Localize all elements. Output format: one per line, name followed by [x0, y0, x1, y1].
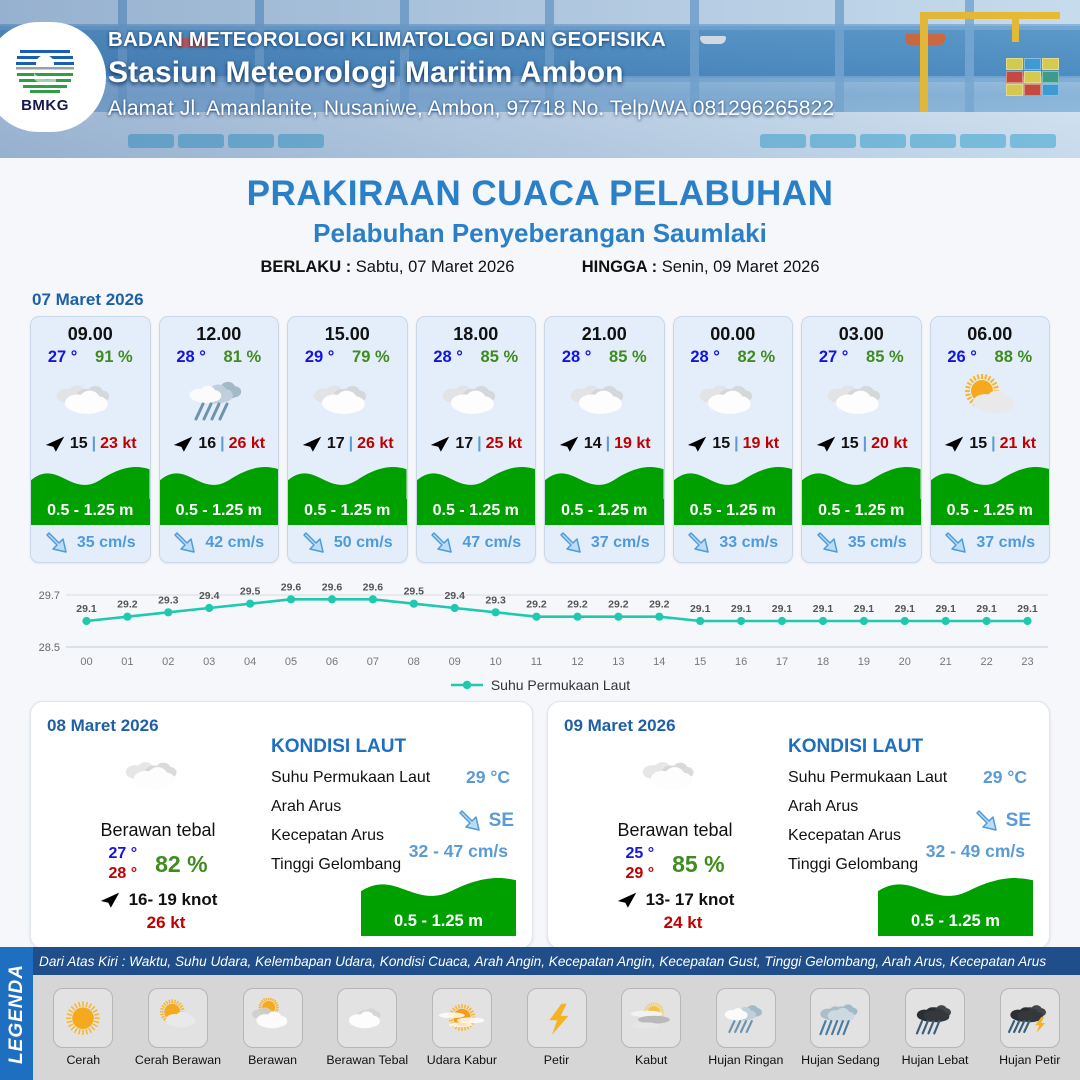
panel-wave-value: 0.5 - 1.25 m	[878, 912, 1033, 931]
panel-current-dir-row: Arah Arus SE	[271, 798, 516, 816]
card-wave-height: 0.5 - 1.25 m	[160, 502, 279, 520]
card-wind-separator: |	[92, 435, 96, 453]
legend-icon-row: Cerah Cerah Berawan Berawan Berawan	[33, 975, 1080, 1080]
chart-legend-label: Suhu Permukaan Laut	[491, 677, 630, 693]
legend-item: Petir	[510, 988, 603, 1067]
svg-text:29.6: 29.6	[363, 581, 384, 593]
svg-text:16: 16	[735, 656, 747, 668]
hourly-card: 21.00 28 ° 85 % 14 | 19 kt 0	[544, 316, 665, 563]
card-wind-separator: |	[734, 435, 738, 453]
cerah-berawan-icon	[954, 372, 1026, 428]
card-humidity: 91 %	[95, 348, 133, 367]
panel-wave-badge: 0.5 - 1.25 m	[878, 867, 1033, 936]
legend-icon-box	[432, 988, 492, 1048]
wave-shape-icon	[878, 867, 1033, 911]
svg-text:12: 12	[571, 656, 583, 668]
agency-name: BADAN METEOROLOGI KLIMATOLOGI DAN GEOFIS…	[108, 28, 834, 52]
card-time: 18.00	[417, 317, 536, 345]
card-humidity: 82 %	[738, 348, 776, 367]
svg-text:10: 10	[489, 656, 501, 668]
wind-direction-icon	[686, 435, 708, 453]
card-temp-hum-row: 29 ° 79 %	[288, 345, 407, 367]
cerah-berawan-icon	[152, 998, 204, 1038]
hourly-card: 12.00 28 ° 81 % 16 | 26 kt 0	[159, 316, 280, 563]
panel-wave-badge: 0.5 - 1.25 m	[361, 867, 516, 936]
title-block: PRAKIRAAN CUACA PELABUHAN Pelabuhan Peny…	[0, 174, 1080, 277]
panel-sst-value: 29 °C	[983, 767, 1027, 788]
wind-direction-icon	[172, 435, 194, 453]
legend-item: Kabut	[605, 988, 698, 1067]
card-current-row: 50 cm/s	[288, 524, 407, 562]
wave-shape-icon	[931, 456, 1050, 500]
panel-humidity: 82 %	[155, 851, 207, 878]
berawan-tebal-icon	[54, 372, 126, 428]
card-time: 15.00	[288, 317, 407, 345]
legend-icon-box	[810, 988, 870, 1048]
hourly-card: 00.00 28 ° 82 % 15 | 19 kt 0	[673, 316, 794, 563]
panel-weather-icon	[570, 746, 780, 806]
card-current-row: 37 cm/s	[931, 524, 1050, 562]
svg-text:18: 18	[817, 656, 829, 668]
hujan-ringan-icon	[183, 372, 255, 428]
legend-item: Hujan Lebat	[889, 988, 982, 1067]
card-current-row: 37 cm/s	[545, 524, 664, 562]
panel-sst-label: Suhu Permukaan Laut	[271, 769, 430, 786]
card-humidity: 88 %	[995, 348, 1033, 367]
card-temperature: 28 °	[562, 348, 592, 367]
svg-text:05: 05	[285, 656, 297, 668]
hourly-card: 15.00 29 ° 79 % 17 | 26 kt 0	[287, 316, 408, 563]
hingga-value: Senin, 09 Maret 2026	[662, 258, 820, 276]
legend-footer: LEGENDA Dari Atas Kiri : Waktu, Suhu Uda…	[0, 947, 1080, 1080]
card-temp-hum-row: 28 ° 81 %	[160, 345, 279, 367]
wind-direction-icon	[301, 435, 323, 453]
wave-shape-icon	[802, 456, 921, 500]
card-wind-separator: |	[477, 435, 481, 453]
card-gust: 23 kt	[100, 435, 136, 453]
svg-text:09: 09	[449, 656, 461, 668]
svg-text:29.3: 29.3	[158, 594, 179, 606]
bmkg-emblem-icon	[14, 40, 76, 96]
card-wind-separator: |	[349, 435, 353, 453]
daily-summary-panels: 08 Maret 2026 Berawan tebal 27 ° 28 ° 82…	[0, 693, 1080, 949]
card-wind-separator: |	[220, 435, 224, 453]
legend-icon-box	[1000, 988, 1060, 1048]
chart-legend: Suhu Permukaan Laut	[0, 677, 1080, 693]
card-weather-icon	[417, 369, 536, 431]
panel-wave-row: Tinggi Gelombang 0.5 - 1.25 m	[788, 856, 1033, 874]
card-current-row: 35 cm/s	[31, 524, 150, 562]
hujan-petir-icon	[1004, 998, 1056, 1038]
card-wind-row: 14 | 19 kt	[545, 431, 664, 456]
hourly-card: 18.00 28 ° 85 % 17 | 25 kt 0	[416, 316, 537, 563]
card-wind-separator: |	[991, 435, 995, 453]
svg-text:29.1: 29.1	[690, 603, 711, 615]
panel-sea-conditions: KONDISI LAUT Suhu Permukaan Laut 29 °C A…	[271, 736, 516, 874]
legend-caption: Dari Atas Kiri : Waktu, Suhu Udara, Kele…	[39, 954, 1046, 969]
svg-text:29.5: 29.5	[240, 586, 261, 598]
card-time: 12.00	[160, 317, 279, 345]
legend-item: Cerah	[37, 988, 130, 1067]
panel-weather-icon	[53, 746, 263, 806]
hujan-sedang-icon	[814, 998, 866, 1038]
wind-direction-icon	[943, 435, 965, 453]
card-wave-zone: 0.5 - 1.25 m	[417, 456, 536, 524]
card-temp-hum-row: 27 ° 91 %	[31, 345, 150, 367]
svg-text:29.7: 29.7	[39, 590, 60, 602]
berawan-tebal-icon	[825, 372, 897, 428]
card-wave-height: 0.5 - 1.25 m	[288, 502, 407, 520]
panel-temp-min: 25 °	[625, 845, 654, 863]
card-time: 21.00	[545, 317, 664, 345]
svg-text:29.6: 29.6	[281, 581, 302, 593]
legend-item-label: Hujan Sedang	[801, 1053, 880, 1067]
card-wind-speed: 15	[70, 435, 88, 453]
current-direction-icon	[559, 530, 585, 556]
legend-item-label: Hujan Lebat	[902, 1053, 969, 1067]
legend-item: Berawan Tebal	[321, 988, 414, 1067]
svg-text:29.5: 29.5	[404, 586, 425, 598]
card-gust: 25 kt	[486, 435, 522, 453]
card-wind-row: 16 | 26 kt	[160, 431, 279, 456]
card-wave-height: 0.5 - 1.25 m	[802, 502, 921, 520]
svg-text:23: 23	[1021, 656, 1033, 668]
sst-chart: 29.728.529.10029.20129.30229.40329.50429…	[18, 573, 1062, 673]
card-wave-height: 0.5 - 1.25 m	[417, 502, 536, 520]
panel-left: Berawan tebal 27 ° 28 ° 82 % 16- 19 knot…	[53, 746, 263, 933]
card-wave-height: 0.5 - 1.25 m	[31, 502, 150, 520]
wind-direction-icon	[558, 435, 580, 453]
panel-temp-max: 28 °	[108, 865, 137, 883]
page-title: PRAKIRAAN CUACA PELABUHAN	[0, 174, 1080, 214]
card-wind-speed: 15	[841, 435, 859, 453]
hourly-forecast-cards: 09.00 27 ° 91 % 15 | 23 kt 0	[0, 316, 1080, 563]
panel-current-speed-label: Kecepatan Arus	[271, 827, 384, 844]
wind-direction-icon	[99, 891, 121, 909]
svg-text:29.2: 29.2	[567, 599, 588, 611]
validity-row: BERLAKU : Sabtu, 07 Maret 2026 HINGGA : …	[0, 258, 1080, 277]
card-wind-row: 17 | 26 kt	[288, 431, 407, 456]
panel-sea-title: KONDISI LAUT	[788, 736, 1033, 758]
card-time: 09.00	[31, 317, 150, 345]
panel-condition: Berawan tebal	[570, 820, 780, 841]
card-wave-zone: 0.5 - 1.25 m	[931, 456, 1050, 524]
current-direction-icon	[687, 530, 713, 556]
card-current-speed: 37 cm/s	[591, 534, 650, 552]
panel-condition: Berawan tebal	[53, 820, 263, 841]
current-direction-icon	[45, 530, 71, 556]
panel-current-dir-label: Arah Arus	[271, 798, 341, 815]
card-time: 03.00	[802, 317, 921, 345]
card-wave-zone: 0.5 - 1.25 m	[288, 456, 407, 524]
panel-wind: 16- 19 knot	[129, 890, 218, 910]
card-gust: 19 kt	[743, 435, 779, 453]
card-wind-speed: 15	[712, 435, 730, 453]
wind-direction-icon	[429, 435, 451, 453]
wave-shape-icon	[361, 867, 516, 911]
daily-summary-panel: 08 Maret 2026 Berawan tebal 27 ° 28 ° 82…	[30, 701, 533, 949]
panel-wind-row: 16- 19 knot	[53, 890, 263, 910]
panel-wave-row: Tinggi Gelombang 0.5 - 1.25 m	[271, 856, 516, 874]
svg-text:19: 19	[858, 656, 870, 668]
svg-text:29.6: 29.6	[322, 581, 343, 593]
svg-text:07: 07	[367, 656, 379, 668]
petir-icon	[531, 998, 583, 1038]
panel-current-dir-label: Arah Arus	[788, 798, 858, 815]
legend-item: Cerah Berawan	[132, 988, 225, 1067]
legend-item-label: Cerah	[66, 1053, 100, 1067]
card-gust: 26 kt	[357, 435, 393, 453]
bmkg-logo: BMKG	[0, 22, 106, 132]
berawan-tebal-icon	[697, 372, 769, 428]
berawan-icon	[247, 998, 299, 1038]
card-gust: 26 kt	[229, 435, 265, 453]
card-current-speed: 33 cm/s	[719, 534, 778, 552]
legend-item-label: Cerah Berawan	[135, 1053, 221, 1067]
panel-date: 08 Maret 2026	[47, 716, 516, 736]
card-wave-height: 0.5 - 1.25 m	[931, 502, 1050, 520]
svg-text:17: 17	[776, 656, 788, 668]
current-direction-icon	[173, 530, 199, 556]
berawan-tebal-icon	[440, 372, 512, 428]
svg-text:06: 06	[326, 656, 338, 668]
berawan-tebal-icon	[123, 749, 193, 803]
card-temp-hum-row: 28 ° 82 %	[674, 345, 793, 367]
card-current-row: 33 cm/s	[674, 524, 793, 562]
card-wind-separator: |	[863, 435, 867, 453]
legend-icon-box	[53, 988, 113, 1048]
card-temp-hum-row: 28 ° 85 %	[545, 345, 664, 367]
wind-direction-icon	[616, 891, 638, 909]
svg-text:22: 22	[980, 656, 992, 668]
berlaku-label: BERLAKU :	[260, 258, 351, 276]
svg-text:29.2: 29.2	[117, 599, 138, 611]
hourly-card: 09.00 27 ° 91 % 15 | 23 kt 0	[30, 316, 151, 563]
card-weather-icon	[802, 369, 921, 431]
svg-text:29.4: 29.4	[444, 590, 465, 602]
svg-text:01: 01	[121, 656, 133, 668]
hujan-ringan-icon	[720, 998, 772, 1038]
svg-text:29.1: 29.1	[1017, 603, 1038, 615]
cerah-icon	[57, 998, 109, 1038]
legend-item-label: Petir	[544, 1053, 569, 1067]
card-humidity: 85 %	[866, 348, 904, 367]
berawan-tebal-icon	[568, 372, 640, 428]
card-time: 06.00	[931, 317, 1050, 345]
panel-sst-row: Suhu Permukaan Laut 29 °C	[788, 769, 1033, 787]
kabut-icon	[625, 998, 677, 1038]
udara-kabur-icon	[436, 998, 488, 1038]
card-wind-speed: 15	[969, 435, 987, 453]
card-weather-icon	[31, 369, 150, 431]
legend-item-label: Hujan Petir	[999, 1053, 1060, 1067]
card-humidity: 85 %	[481, 348, 519, 367]
legend-icon-box	[716, 988, 776, 1048]
chart-legend-marker-icon	[450, 679, 484, 691]
card-time: 00.00	[674, 317, 793, 345]
card-temperature: 28 °	[433, 348, 463, 367]
card-wind-row: 15 | 23 kt	[31, 431, 150, 456]
card-current-speed: 50 cm/s	[334, 534, 393, 552]
legend-icon-box	[905, 988, 965, 1048]
card-wave-zone: 0.5 - 1.25 m	[31, 456, 150, 524]
page-header: BMKG BADAN METEOROLOGI KLIMATOLOGI DAN G…	[0, 0, 1080, 158]
svg-text:20: 20	[899, 656, 911, 668]
berawan-tebal-icon	[640, 749, 710, 803]
wave-shape-icon	[31, 456, 150, 500]
sst-chart-svg: 29.728.529.10029.20129.30229.40329.50429…	[18, 573, 1062, 673]
legenda-tab: LEGENDA	[0, 947, 33, 1080]
legend-item-label: Kabut	[635, 1053, 667, 1067]
bmkg-logo-text: BMKG	[21, 97, 69, 114]
panel-wave-value: 0.5 - 1.25 m	[361, 912, 516, 931]
legend-item: Hujan Ringan	[699, 988, 792, 1067]
svg-text:04: 04	[244, 656, 256, 668]
hourly-card: 06.00 26 ° 88 % 15 | 21 kt 0.5 - 1.25 m …	[930, 316, 1051, 563]
card-current-speed: 42 cm/s	[205, 534, 264, 552]
svg-text:15: 15	[694, 656, 706, 668]
svg-text:29.1: 29.1	[935, 603, 956, 615]
svg-text:02: 02	[162, 656, 174, 668]
card-wave-zone: 0.5 - 1.25 m	[674, 456, 793, 524]
svg-text:00: 00	[80, 656, 92, 668]
card-temperature: 29 °	[305, 348, 335, 367]
card-current-row: 42 cm/s	[160, 524, 279, 562]
card-gust: 21 kt	[1000, 435, 1036, 453]
berlaku-value: Sabtu, 07 Maret 2026	[356, 258, 515, 276]
card-wave-zone: 0.5 - 1.25 m	[545, 456, 664, 524]
svg-text:03: 03	[203, 656, 215, 668]
hingga-label: HINGGA :	[582, 258, 657, 276]
legend-icon-box	[527, 988, 587, 1048]
legend-icon-box	[621, 988, 681, 1048]
legend-item-label: Hujan Ringan	[708, 1053, 783, 1067]
panel-humidity: 85 %	[672, 851, 724, 878]
hujan-lebat-icon	[909, 998, 961, 1038]
panel-sea-title: KONDISI LAUT	[271, 736, 516, 758]
card-temperature: 28 °	[690, 348, 720, 367]
svg-text:11: 11	[531, 656, 542, 668]
legend-icon-box	[148, 988, 208, 1048]
wave-shape-icon	[160, 456, 279, 500]
panel-sea-conditions: KONDISI LAUT Suhu Permukaan Laut 29 °C A…	[788, 736, 1033, 874]
card-weather-icon	[160, 369, 279, 431]
panel-sst-row: Suhu Permukaan Laut 29 °C	[271, 769, 516, 787]
panel-current-speed-row: Kecepatan Arus 32 - 47 cm/s	[271, 827, 516, 845]
panel-temps: 27 ° 28 ° 82 %	[53, 845, 263, 883]
hourly-card: 03.00 27 ° 85 % 15 | 20 kt 0	[801, 316, 922, 563]
card-temperature: 26 °	[947, 348, 977, 367]
station-name: Stasiun Meteorologi Maritim Ambon	[108, 56, 834, 90]
card-current-speed: 35 cm/s	[848, 534, 907, 552]
panel-wind: 13- 17 knot	[646, 890, 735, 910]
berawan-tebal-icon	[311, 372, 383, 428]
wave-shape-icon	[545, 456, 664, 500]
card-wave-height: 0.5 - 1.25 m	[545, 502, 664, 520]
card-temperature: 27 °	[819, 348, 849, 367]
card-weather-icon	[931, 369, 1050, 431]
card-wind-speed: 16	[198, 435, 216, 453]
card-wind-separator: |	[606, 435, 610, 453]
card-wave-height: 0.5 - 1.25 m	[674, 502, 793, 520]
card-humidity: 81 %	[224, 348, 262, 367]
card-weather-icon	[674, 369, 793, 431]
station-address: Alamat Jl. Amanlanite, Nusaniwe, Ambon, …	[108, 97, 834, 121]
card-current-speed: 47 cm/s	[462, 534, 521, 552]
card-wind-row: 17 | 25 kt	[417, 431, 536, 456]
legenda-tab-label: LEGENDA	[6, 964, 28, 1064]
legend-item-label: Berawan	[248, 1053, 297, 1067]
svg-text:14: 14	[653, 656, 665, 668]
panel-current-dir-row: Arah Arus SE	[788, 798, 1033, 816]
svg-text:29.1: 29.1	[895, 603, 916, 615]
hourly-date-label: 07 Maret 2026	[32, 290, 1080, 310]
svg-text:29.2: 29.2	[649, 599, 670, 611]
panel-current-speed-row: Kecepatan Arus 32 - 49 cm/s	[788, 827, 1033, 845]
panel-temp-min: 27 °	[108, 845, 137, 863]
card-wind-speed: 17	[455, 435, 473, 453]
legend-item: Berawan	[226, 988, 319, 1067]
card-temp-hum-row: 26 ° 88 %	[931, 345, 1050, 367]
svg-text:28.5: 28.5	[39, 642, 60, 654]
wave-shape-icon	[288, 456, 407, 500]
panel-wind-row: 13- 17 knot	[570, 890, 780, 910]
card-wave-zone: 0.5 - 1.25 m	[802, 456, 921, 524]
svg-text:29.1: 29.1	[854, 603, 875, 615]
card-temperature: 27 °	[48, 348, 78, 367]
card-current-row: 35 cm/s	[802, 524, 921, 562]
wind-direction-icon	[815, 435, 837, 453]
svg-text:29.3: 29.3	[485, 594, 506, 606]
panel-temps: 25 ° 29 ° 85 %	[570, 845, 780, 883]
svg-text:29.1: 29.1	[76, 603, 97, 615]
legend-item-label: Udara Kabur	[427, 1053, 497, 1067]
svg-text:29.2: 29.2	[608, 599, 629, 611]
card-wind-row: 15 | 19 kt	[674, 431, 793, 456]
card-current-row: 47 cm/s	[417, 524, 536, 562]
panel-gust: 24 kt	[586, 913, 780, 933]
svg-text:29.1: 29.1	[813, 603, 834, 615]
wave-shape-icon	[417, 456, 536, 500]
panel-left: Berawan tebal 25 ° 29 ° 85 % 13- 17 knot…	[570, 746, 780, 933]
card-current-speed: 35 cm/s	[77, 534, 136, 552]
panel-sst-label: Suhu Permukaan Laut	[788, 769, 947, 786]
panel-gust: 26 kt	[69, 913, 263, 933]
svg-text:21: 21	[940, 656, 952, 668]
wave-shape-icon	[674, 456, 793, 500]
legend-item: Hujan Petir	[983, 988, 1076, 1067]
svg-text:29.1: 29.1	[976, 603, 997, 615]
svg-text:29.1: 29.1	[772, 603, 793, 615]
card-temp-hum-row: 27 ° 85 %	[802, 345, 921, 367]
card-wind-row: 15 | 20 kt	[802, 431, 921, 456]
current-direction-icon	[816, 530, 842, 556]
wind-direction-icon	[44, 435, 66, 453]
card-weather-icon	[545, 369, 664, 431]
card-weather-icon	[288, 369, 407, 431]
card-wind-row: 15 | 21 kt	[931, 431, 1050, 456]
card-wind-speed: 14	[584, 435, 602, 453]
card-humidity: 85 %	[609, 348, 647, 367]
legend-icon-box	[337, 988, 397, 1048]
page-subtitle: Pelabuhan Penyeberangan Saumlaki	[0, 218, 1080, 249]
panel-sst-value: 29 °C	[466, 767, 510, 788]
panel-date: 09 Maret 2026	[564, 716, 1033, 736]
berawan-tebal-icon	[341, 998, 393, 1038]
legend-item: Hujan Sedang	[794, 988, 887, 1067]
card-humidity: 79 %	[352, 348, 390, 367]
card-wave-zone: 0.5 - 1.25 m	[160, 456, 279, 524]
